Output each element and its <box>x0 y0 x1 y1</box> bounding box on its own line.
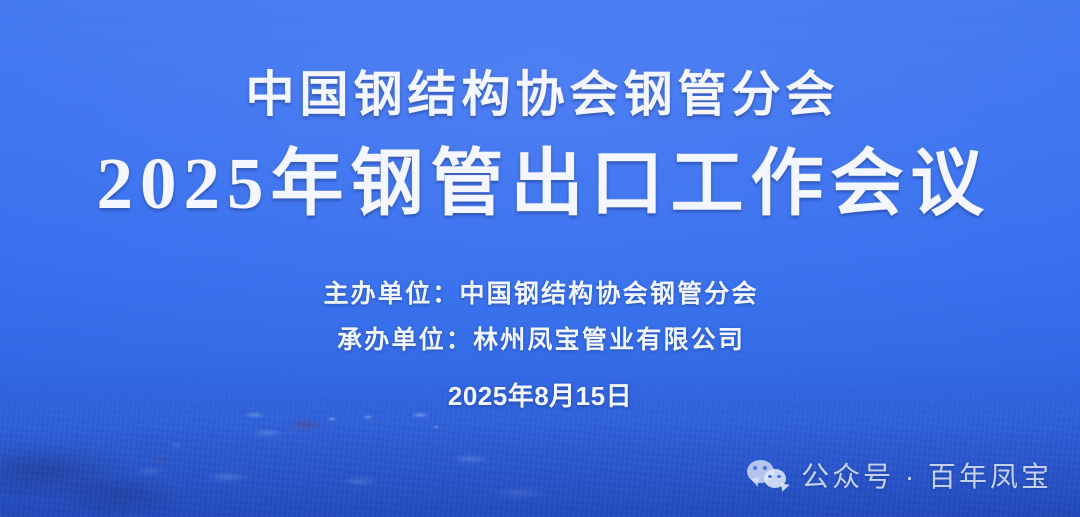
organizer-line: 主办单位：中国钢结构协会钢管分会 <box>0 274 1080 310</box>
event-date: 2025年8月15日 <box>0 376 1080 413</box>
host-line: 承办单位：林州凤宝管业有限公司 <box>0 320 1080 356</box>
wechat-icon <box>747 458 789 492</box>
watermark-text: 公众号 · 百年凤宝 <box>801 455 1052 495</box>
banner-title-line-1: 中国钢结构协会钢管分会 <box>0 68 1080 122</box>
banner-content: 中国钢结构协会钢管分会 2025年钢管出口工作会议 主办单位：中国钢结构协会钢管… <box>0 0 1080 517</box>
conference-banner: 中国钢结构协会钢管分会 2025年钢管出口工作会议 主办单位：中国钢结构协会钢管… <box>0 0 1080 517</box>
banner-title-line-2: 2025年钢管出口工作会议 <box>0 143 1080 225</box>
watermark: 公众号 · 百年凤宝 <box>747 455 1052 495</box>
